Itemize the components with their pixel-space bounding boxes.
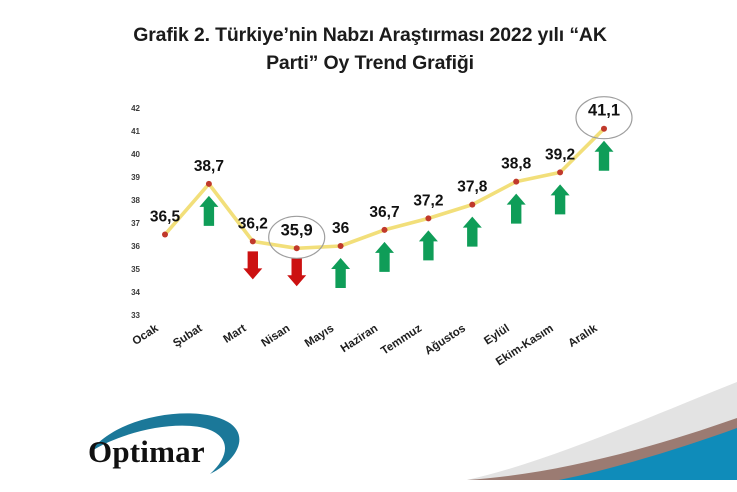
trend-up-arrow-icon bbox=[331, 258, 350, 288]
trend-up-arrow-icon bbox=[199, 196, 218, 226]
data-point-label: 36,7 bbox=[369, 204, 399, 221]
data-marker[interactable] bbox=[513, 179, 519, 185]
data-labels-group: 36,538,736,235,93636,737,237,838,839,241… bbox=[150, 102, 620, 240]
data-point-label: 35,9 bbox=[281, 221, 313, 239]
y-axis-tick-label: 34 bbox=[131, 288, 140, 297]
x-axis-tick-label: Haziran bbox=[339, 322, 380, 355]
y-axis-tick-label: 35 bbox=[131, 265, 140, 274]
data-point-label: 38,7 bbox=[194, 158, 224, 175]
x-axis-tick-label: Şubat bbox=[171, 322, 204, 350]
x-axis-ticks: OcakŞubatMartNisanMayısHaziranTemmuzAğus… bbox=[130, 322, 600, 368]
x-axis-tick-label: Ağustos bbox=[423, 322, 468, 357]
data-marker[interactable] bbox=[294, 245, 300, 251]
x-axis-tick-label: Mart bbox=[222, 322, 249, 345]
data-marker[interactable] bbox=[425, 215, 431, 221]
data-point-label: 36,5 bbox=[150, 209, 181, 226]
slide-canvas: Grafik 2. Türkiye’nin Nabzı Araştırması … bbox=[0, 0, 737, 492]
y-axis-tick-label: 33 bbox=[131, 311, 140, 320]
x-axis-tick-label: Eylül bbox=[482, 322, 512, 347]
trend-up-arrow-icon bbox=[595, 141, 614, 171]
data-point-label: 41,1 bbox=[588, 102, 620, 120]
decorative-swoosh-icon bbox=[467, 370, 737, 492]
data-marker[interactable] bbox=[557, 169, 563, 175]
y-axis-tick-label: 42 bbox=[131, 104, 140, 113]
trend-up-arrow-icon bbox=[419, 230, 438, 260]
trend-up-arrow-icon bbox=[375, 242, 394, 272]
data-point-label: 37,2 bbox=[413, 192, 443, 209]
data-markers-group bbox=[162, 126, 607, 252]
y-axis-tick-label: 38 bbox=[131, 196, 140, 205]
data-marker[interactable] bbox=[601, 126, 607, 132]
data-point-label: 37,8 bbox=[457, 179, 488, 196]
y-axis-tick-label: 40 bbox=[131, 150, 140, 159]
trend-up-arrow-icon bbox=[463, 217, 482, 247]
y-axis-tick-label: 39 bbox=[131, 173, 140, 182]
y-axis-tick-label: 37 bbox=[131, 219, 140, 228]
x-axis-tick-label: Mayıs bbox=[303, 322, 336, 349]
trend-up-arrow-icon bbox=[507, 194, 526, 224]
x-axis-tick-label: Ocak bbox=[130, 322, 161, 348]
data-point-label: 39,2 bbox=[545, 146, 575, 163]
data-point-label: 38,8 bbox=[501, 156, 532, 173]
data-marker[interactable] bbox=[162, 232, 168, 238]
data-point-label: 36 bbox=[332, 220, 350, 237]
x-axis-tick-label: Temmuz bbox=[379, 322, 424, 357]
brand-logo: Optimar bbox=[78, 408, 298, 486]
data-marker[interactable] bbox=[382, 227, 388, 233]
x-axis-tick-label: Nisan bbox=[260, 322, 293, 349]
trend-down-arrow-icon bbox=[287, 258, 306, 286]
y-axis-tick-label: 41 bbox=[131, 127, 140, 136]
brand-name: Optimar bbox=[88, 434, 205, 470]
trend-down-arrow-icon bbox=[243, 251, 262, 279]
corner-decoration bbox=[467, 370, 737, 492]
data-marker[interactable] bbox=[338, 243, 344, 249]
highlight-ellipses-group bbox=[269, 97, 632, 259]
trend-up-arrow-icon bbox=[551, 184, 570, 214]
x-axis-tick-label: Aralık bbox=[566, 322, 600, 350]
y-axis-tick-label: 36 bbox=[131, 242, 140, 251]
data-marker[interactable] bbox=[250, 238, 256, 244]
data-point-label: 36,2 bbox=[238, 215, 268, 232]
data-marker[interactable] bbox=[206, 181, 212, 187]
y-axis-ticks: 33343536373839404142 bbox=[131, 104, 140, 320]
data-marker[interactable] bbox=[469, 202, 475, 208]
